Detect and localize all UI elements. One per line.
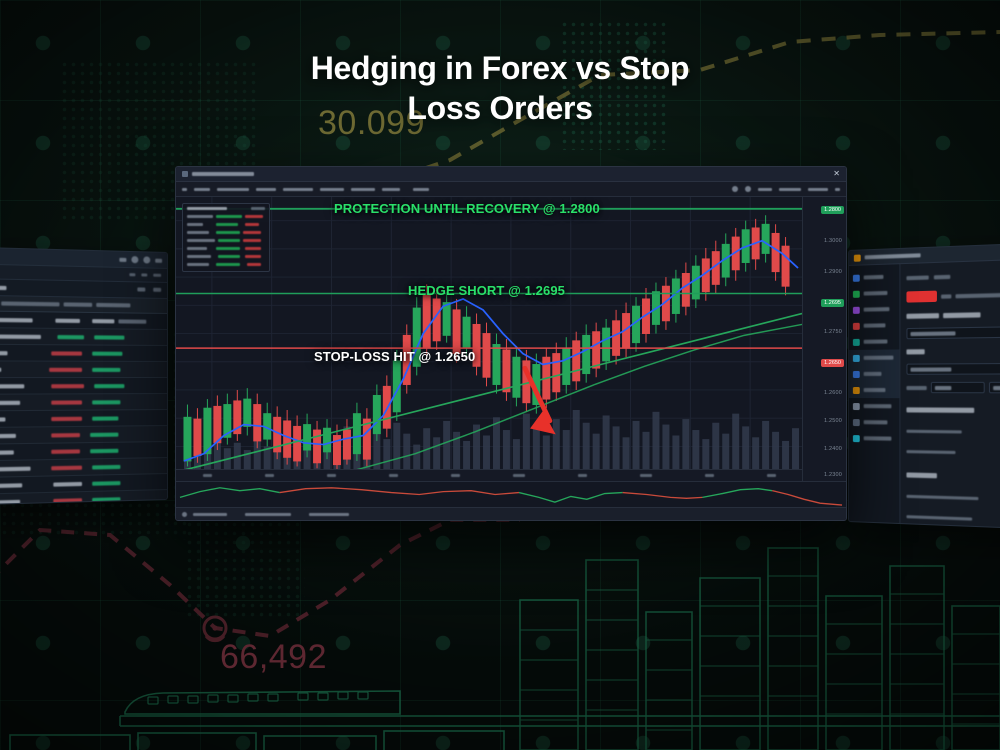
accounts-icon bbox=[853, 306, 860, 313]
background-value-bottom: 66,492 bbox=[220, 638, 327, 677]
terminal-icon bbox=[853, 322, 860, 329]
section-title bbox=[906, 313, 939, 319]
time-axis bbox=[176, 469, 802, 481]
sidebar-item-documents[interactable] bbox=[849, 398, 899, 414]
toolbar-item-indicators[interactable] bbox=[217, 188, 249, 191]
overflow-menu-icon[interactable] bbox=[835, 188, 840, 191]
sidebar-item-history[interactable] bbox=[849, 382, 899, 398]
toolbar-item-timeframe[interactable] bbox=[758, 188, 772, 191]
sidebar-item-instruments[interactable] bbox=[849, 349, 899, 366]
chart-titlebar: ✕ bbox=[176, 167, 846, 182]
fullscreen-icon[interactable] bbox=[745, 186, 751, 192]
sidebar-item-positions[interactable] bbox=[849, 333, 899, 350]
column-profit bbox=[96, 303, 130, 308]
price-axis[interactable]: 1.2800 1.3000 1.2900 1.2695 1.2750 1.265… bbox=[802, 197, 846, 481]
positions-icon bbox=[853, 338, 860, 345]
sidebar-item-accounts[interactable] bbox=[849, 301, 899, 318]
order-management-content bbox=[900, 259, 1000, 529]
positions-window[interactable] bbox=[0, 247, 168, 506]
order-type-input[interactable] bbox=[906, 326, 1000, 339]
orders-icon bbox=[853, 290, 860, 297]
sidebar-item-connection[interactable] bbox=[849, 430, 899, 447]
chart-ohlc-legend bbox=[182, 203, 270, 272]
status-sync bbox=[309, 513, 349, 516]
sidebar-item-label bbox=[864, 307, 890, 312]
axis-tick: 1.2400 bbox=[824, 446, 842, 452]
table-row[interactable] bbox=[0, 345, 167, 362]
toolbar-item-drawings[interactable] bbox=[283, 188, 313, 191]
grid-view-icon[interactable] bbox=[153, 288, 161, 292]
charting-terminal-window[interactable]: ✕ bbox=[175, 166, 847, 521]
close-order-button[interactable] bbox=[906, 291, 936, 303]
close-icon[interactable] bbox=[155, 258, 162, 262]
page-title: Hedging in Forex vs Stop Loss Orders bbox=[0, 48, 1000, 129]
sidebar-item-label bbox=[864, 339, 888, 343]
sidebar-item-label bbox=[864, 323, 886, 327]
price-badge-stoploss: 1.2650 bbox=[821, 359, 844, 367]
maximize-icon[interactable] bbox=[131, 256, 138, 263]
documents-icon bbox=[853, 403, 860, 410]
chart-exchange bbox=[251, 207, 265, 210]
section-title bbox=[906, 473, 936, 479]
table-row[interactable] bbox=[0, 311, 167, 330]
status-market-open bbox=[193, 513, 227, 516]
app-icon bbox=[182, 171, 188, 177]
sidebar-item-label bbox=[864, 420, 888, 424]
alerts-icon bbox=[853, 370, 860, 377]
sidebar-item-orders[interactable] bbox=[849, 285, 899, 302]
order-management-sidebar[interactable] bbox=[849, 264, 900, 523]
toolbar-item-publish[interactable] bbox=[808, 188, 828, 191]
order-management-window[interactable] bbox=[848, 242, 1000, 530]
sidebar-item-label bbox=[864, 275, 884, 280]
poster-canvas: 30.099 66,492 Hedging in Forex vs Stop L… bbox=[0, 0, 1000, 750]
menu-icon[interactable] bbox=[153, 274, 161, 277]
oscillator-line-red bbox=[623, 493, 703, 499]
settings-icon[interactable] bbox=[732, 186, 738, 192]
axis-tick: 1.2750 bbox=[824, 329, 842, 335]
annotation-protection: PROTECTION UNTIL RECOVERY @ 1.2800 bbox=[334, 201, 600, 216]
list-view-icon[interactable] bbox=[137, 288, 145, 292]
axis-tick: 1.2500 bbox=[824, 418, 842, 424]
close-icon[interactable]: ✕ bbox=[833, 170, 840, 178]
minimize-icon[interactable] bbox=[119, 257, 126, 261]
sidebar-item-label bbox=[864, 356, 894, 360]
table-row[interactable] bbox=[0, 361, 167, 378]
toolbar-item-schedule[interactable] bbox=[779, 188, 801, 191]
volume-input[interactable] bbox=[906, 363, 1000, 375]
toolbar-item-chart[interactable] bbox=[382, 188, 400, 191]
menu-icon[interactable] bbox=[182, 188, 187, 191]
oscillator-line-green bbox=[702, 489, 772, 498]
table-row[interactable] bbox=[0, 394, 167, 411]
positions-table-body[interactable] bbox=[0, 311, 167, 505]
oscillator-line-red bbox=[772, 491, 842, 505]
order-management-title bbox=[865, 253, 921, 259]
axis-tick: 1.2900 bbox=[824, 269, 842, 275]
instant-select[interactable] bbox=[988, 382, 1000, 394]
oscillator-line-green bbox=[180, 488, 280, 498]
gear-icon[interactable] bbox=[141, 273, 147, 276]
dashboard-icon bbox=[853, 274, 860, 281]
price-chart-plot[interactable]: PROTECTION UNTIL RECOVERY @ 1.2800 HEDGE… bbox=[176, 197, 802, 481]
oscillator-line-green bbox=[519, 493, 623, 503]
toolbar-item-layout[interactable] bbox=[351, 188, 375, 191]
sidebar-item-alerts[interactable] bbox=[849, 366, 899, 382]
market-select[interactable] bbox=[931, 382, 984, 393]
price-badge-protection: 1.2800 bbox=[821, 206, 844, 214]
toolbar-item-tools[interactable] bbox=[256, 188, 276, 191]
page-title-line1: Hedging in Forex vs Stop bbox=[0, 48, 1000, 88]
chart-symbol bbox=[187, 207, 227, 210]
page-title-line2: Loss Orders bbox=[0, 88, 1000, 128]
oscillator-line-red bbox=[280, 488, 519, 495]
settings-icon[interactable] bbox=[143, 256, 150, 263]
sidebar-item-dashboard[interactable] bbox=[849, 268, 899, 286]
axis-tick: 1.2300 bbox=[824, 472, 842, 478]
sidebar-item-label bbox=[864, 291, 888, 296]
section-title bbox=[906, 408, 974, 414]
column-instrument bbox=[1, 301, 59, 306]
history-icon bbox=[853, 387, 860, 394]
chart-statusbar[interactable] bbox=[176, 507, 846, 520]
price-badge-hedge: 1.2695 bbox=[821, 299, 844, 307]
sidebar-item-label bbox=[864, 404, 892, 408]
annotation-hedge: HEDGE SHORT @ 1.2695 bbox=[408, 283, 565, 298]
column-volume bbox=[64, 302, 93, 307]
annotation-stoploss: STOP-LOSS HIT @ 1.2650 bbox=[314, 349, 475, 364]
axis-tick: 1.2600 bbox=[824, 390, 842, 396]
refresh-icon[interactable] bbox=[129, 273, 135, 276]
instruments-icon bbox=[853, 354, 860, 361]
status-server-connected bbox=[245, 513, 291, 516]
sidebar-item-accounts2[interactable] bbox=[849, 414, 899, 431]
connection-icon bbox=[853, 435, 860, 442]
table-row[interactable] bbox=[0, 378, 167, 395]
chart-toolbar[interactable] bbox=[176, 182, 846, 197]
toolbar-item-view[interactable] bbox=[413, 188, 429, 191]
toolbar-item-save[interactable] bbox=[194, 188, 210, 191]
chart-window-title bbox=[192, 172, 254, 176]
accounts2-icon bbox=[853, 419, 860, 426]
toolbar-item-alerts[interactable] bbox=[320, 188, 344, 191]
section-title bbox=[906, 349, 924, 354]
positions-window-title bbox=[0, 285, 6, 290]
sidebar-item-label bbox=[864, 436, 892, 440]
status-indicator-icon bbox=[182, 512, 187, 517]
table-row[interactable] bbox=[0, 328, 167, 346]
app-icon bbox=[854, 254, 861, 261]
sidebar-item-terminal[interactable] bbox=[849, 317, 899, 334]
sidebar-item-label bbox=[864, 388, 886, 392]
sidebar-item-label bbox=[864, 372, 882, 376]
axis-tick: 1.3000 bbox=[824, 238, 842, 244]
oscillator-indicator-panel[interactable] bbox=[176, 481, 846, 507]
